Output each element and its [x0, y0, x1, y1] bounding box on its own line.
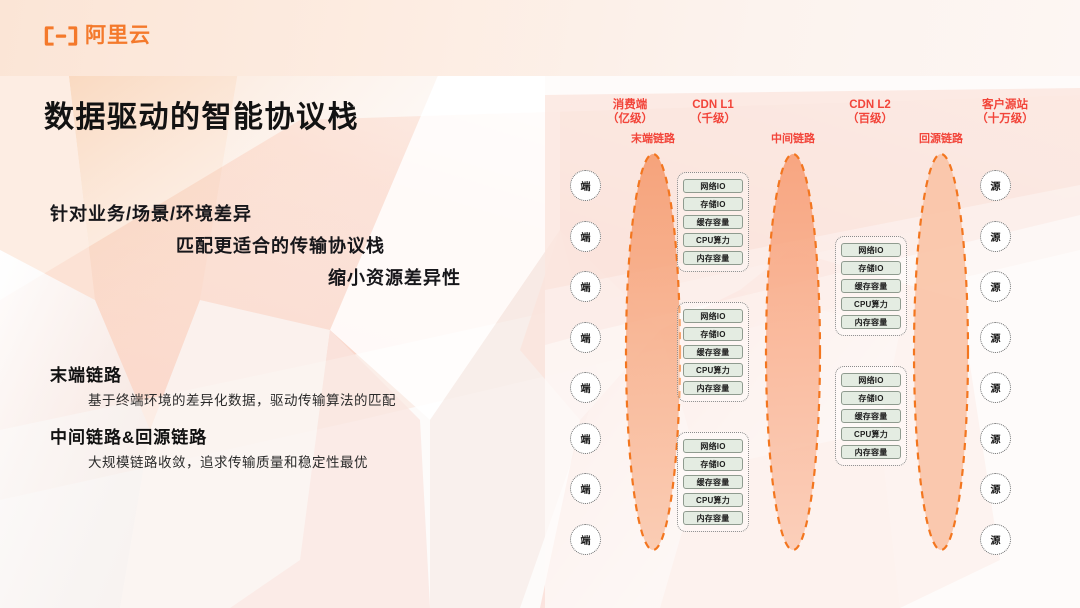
origin-node[interactable]: 源: [980, 423, 1011, 454]
resource-row: 内存容量: [841, 445, 901, 459]
resource-row: 缓存容量: [841, 279, 901, 293]
origin-node[interactable]: 源: [980, 271, 1011, 302]
origin-link-lens: [910, 150, 972, 554]
column-header-cdn-l1: CDN L1 （千级）: [673, 98, 753, 126]
brand-logo: 阿里云: [44, 24, 151, 48]
resource-row: CPU算力: [841, 427, 901, 441]
section-title: 中间链路&回源链路: [50, 425, 368, 451]
origin-node[interactable]: 源: [980, 322, 1011, 353]
cdn-topology-diagram: 消费端 （亿级） CDN L1 （千级） CDN L2 （百级） 客户源站 （十…: [540, 0, 1080, 608]
resource-row: 缓存容量: [683, 475, 743, 489]
alibaba-cloud-logo-icon: [44, 24, 78, 48]
lead-paragraph: 针对业务/场景/环境差异 匹配更适合的传输协议栈 缩小资源差异性: [50, 198, 570, 294]
origin-node[interactable]: 源: [980, 473, 1011, 504]
column-header-name: 客户源站: [960, 98, 1050, 112]
section-title: 末端链路: [50, 363, 396, 389]
consumer-node[interactable]: 端: [570, 473, 601, 504]
resource-row: 内存容量: [683, 251, 743, 265]
cdn-l1-node-card[interactable]: 网络IO存储IO缓存容量CPU算力内存容量: [677, 172, 749, 272]
resource-row: 缓存容量: [841, 409, 901, 423]
resource-row: CPU算力: [683, 363, 743, 377]
resource-row: 存储IO: [841, 261, 901, 275]
section-description: 基于终端环境的差异化数据，驱动传输算法的匹配: [50, 389, 396, 413]
consumer-node[interactable]: 端: [570, 271, 601, 302]
origin-node[interactable]: 源: [980, 170, 1011, 201]
resource-row: 网络IO: [683, 439, 743, 453]
link-label-last-mile: 末端链路: [618, 133, 688, 146]
resource-row: CPU算力: [841, 297, 901, 311]
consumer-node[interactable]: 端: [570, 372, 601, 403]
consumer-node[interactable]: 端: [570, 221, 601, 252]
consumer-node[interactable]: 端: [570, 524, 601, 555]
link-label-origin: 回源链路: [906, 133, 976, 146]
column-header-consumer: 消费端 （亿级）: [590, 98, 670, 126]
column-header-origin: 客户源站 （十万级）: [960, 98, 1050, 126]
resource-row: 网络IO: [683, 179, 743, 193]
lead-line-1: 针对业务/场景/环境差异: [50, 198, 570, 230]
column-header-scale: （百级）: [830, 112, 910, 126]
resource-row: 缓存容量: [683, 345, 743, 359]
consumer-node[interactable]: 端: [570, 170, 601, 201]
column-header-cdn-l2: CDN L2 （百级）: [830, 98, 910, 126]
resource-row: CPU算力: [683, 233, 743, 247]
cdn-l2-node-card[interactable]: 网络IO存储IO缓存容量CPU算力内存容量: [835, 236, 907, 336]
resource-row: 网络IO: [841, 373, 901, 387]
cdn-l2-node-card[interactable]: 网络IO存储IO缓存容量CPU算力内存容量: [835, 366, 907, 466]
origin-node[interactable]: 源: [980, 372, 1011, 403]
lead-line-3: 缩小资源差异性: [50, 262, 570, 294]
section-description: 大规模链路收敛，追求传输质量和稳定性最优: [50, 451, 368, 475]
resource-row: 存储IO: [683, 457, 743, 471]
consumer-node[interactable]: 端: [570, 322, 601, 353]
last-mile-link-lens: [622, 150, 684, 554]
resource-row: 内存容量: [683, 381, 743, 395]
column-header-name: CDN L1: [673, 98, 753, 112]
brand-logo-text: 阿里云: [85, 24, 151, 48]
section-last-mile: 末端链路 基于终端环境的差异化数据，驱动传输算法的匹配: [50, 363, 396, 413]
cdn-l1-node-card[interactable]: 网络IO存储IO缓存容量CPU算力内存容量: [677, 432, 749, 532]
page-title: 数据驱动的智能协议栈: [44, 92, 359, 136]
consumer-node[interactable]: 端: [570, 423, 601, 454]
cdn-l1-node-card[interactable]: 网络IO存储IO缓存容量CPU算力内存容量: [677, 302, 749, 402]
column-header-name: 消费端: [590, 98, 670, 112]
resource-row: 缓存容量: [683, 215, 743, 229]
origin-node[interactable]: 源: [980, 524, 1011, 555]
column-header-scale: （十万级）: [960, 112, 1050, 126]
resource-row: 内存容量: [683, 511, 743, 525]
resource-row: 存储IO: [683, 197, 743, 211]
middle-link-lens: [762, 150, 824, 554]
slide-canvas: 阿里云 数据驱动的智能协议栈 针对业务/场景/环境差异 匹配更适合的传输协议栈 …: [0, 0, 1080, 608]
resource-row: CPU算力: [683, 493, 743, 507]
column-header-scale: （亿级）: [590, 112, 670, 126]
lead-line-2: 匹配更适合的传输协议栈: [50, 230, 570, 262]
origin-node[interactable]: 源: [980, 221, 1011, 252]
resource-row: 存储IO: [841, 391, 901, 405]
link-label-middle: 中间链路: [758, 133, 828, 146]
column-header-name: CDN L2: [830, 98, 910, 112]
resource-row: 存储IO: [683, 327, 743, 341]
resource-row: 内存容量: [841, 315, 901, 329]
resource-row: 网络IO: [683, 309, 743, 323]
resource-row: 网络IO: [841, 243, 901, 257]
section-middle-and-origin: 中间链路&回源链路 大规模链路收敛，追求传输质量和稳定性最优: [50, 425, 368, 475]
column-header-scale: （千级）: [673, 112, 753, 126]
